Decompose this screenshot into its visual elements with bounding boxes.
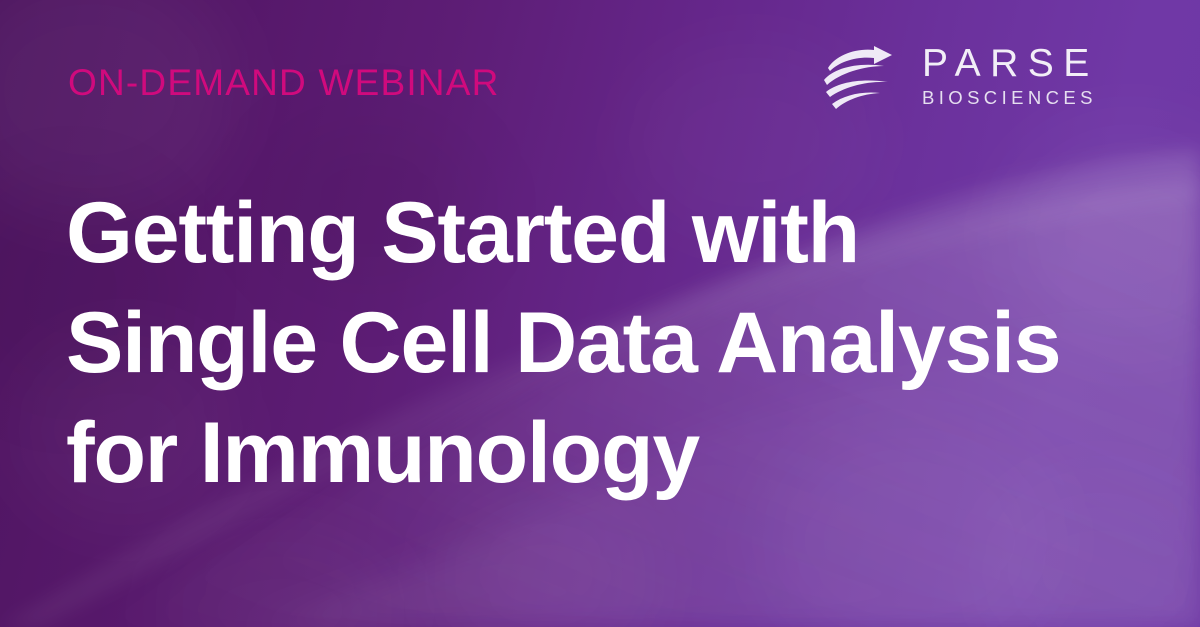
- headline-line-2: Single Cell Data Analysis: [66, 288, 1126, 398]
- eyebrow-label: ON-DEMAND WEBINAR: [68, 64, 500, 101]
- parse-swirl-logo-icon: [818, 46, 904, 112]
- brand-tagline: BIOSCIENCES: [922, 86, 1148, 110]
- webinar-promo-banner: ON-DEMAND WEBINAR Getting Started with S…: [0, 0, 1200, 627]
- headline-line-3: for Immunology: [66, 398, 1126, 508]
- headline-line-1: Getting Started with: [66, 178, 1126, 288]
- page-title: Getting Started with Single Cell Data An…: [66, 178, 1126, 508]
- brand-name: PARSE: [922, 42, 1148, 86]
- brand-logo: PARSE BIOSCIENCES: [818, 42, 1148, 118]
- brand-wordmark: PARSE BIOSCIENCES: [922, 42, 1148, 110]
